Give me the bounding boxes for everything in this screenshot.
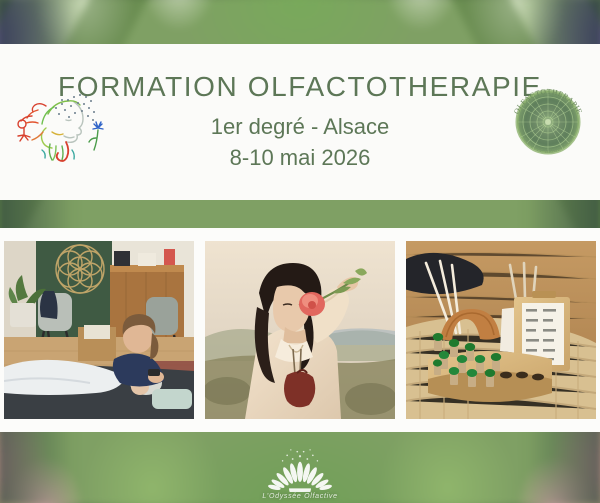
banner-subtitle: 1er degré - Alsace 8-10 mai 2026: [211, 112, 390, 173]
photo-essential-oil-kit: [406, 241, 596, 419]
photo-strip: [0, 228, 600, 432]
banner-subtitle-line1: 1er degré - Alsace: [211, 112, 390, 142]
photo-therapy-session: [4, 241, 194, 419]
banner-subtitle-line2: 8-10 mai 2026: [211, 143, 390, 173]
hand-drawn-face-flowers-logo: [12, 80, 108, 164]
poster: FORMATION OLFACTOTHERAPIE 1er degré - Al…: [0, 0, 600, 503]
page-title: FORMATION OLFACTOTHERAPIE: [58, 71, 542, 103]
photo-woman-smelling-rose: [205, 241, 395, 419]
header-banner: FORMATION OLFACTOTHERAPIE 1er degré - Al…: [0, 44, 600, 200]
footer-brand-text: L'Odyssée Olfactive: [262, 493, 337, 500]
olfactotherapie-mandala-logo: OLFACTOTHERAPIE CELLULE ORIGINELLE: [506, 80, 590, 164]
lotus-sunrise-logo: L'Odyssée Olfactive: [245, 438, 355, 500]
